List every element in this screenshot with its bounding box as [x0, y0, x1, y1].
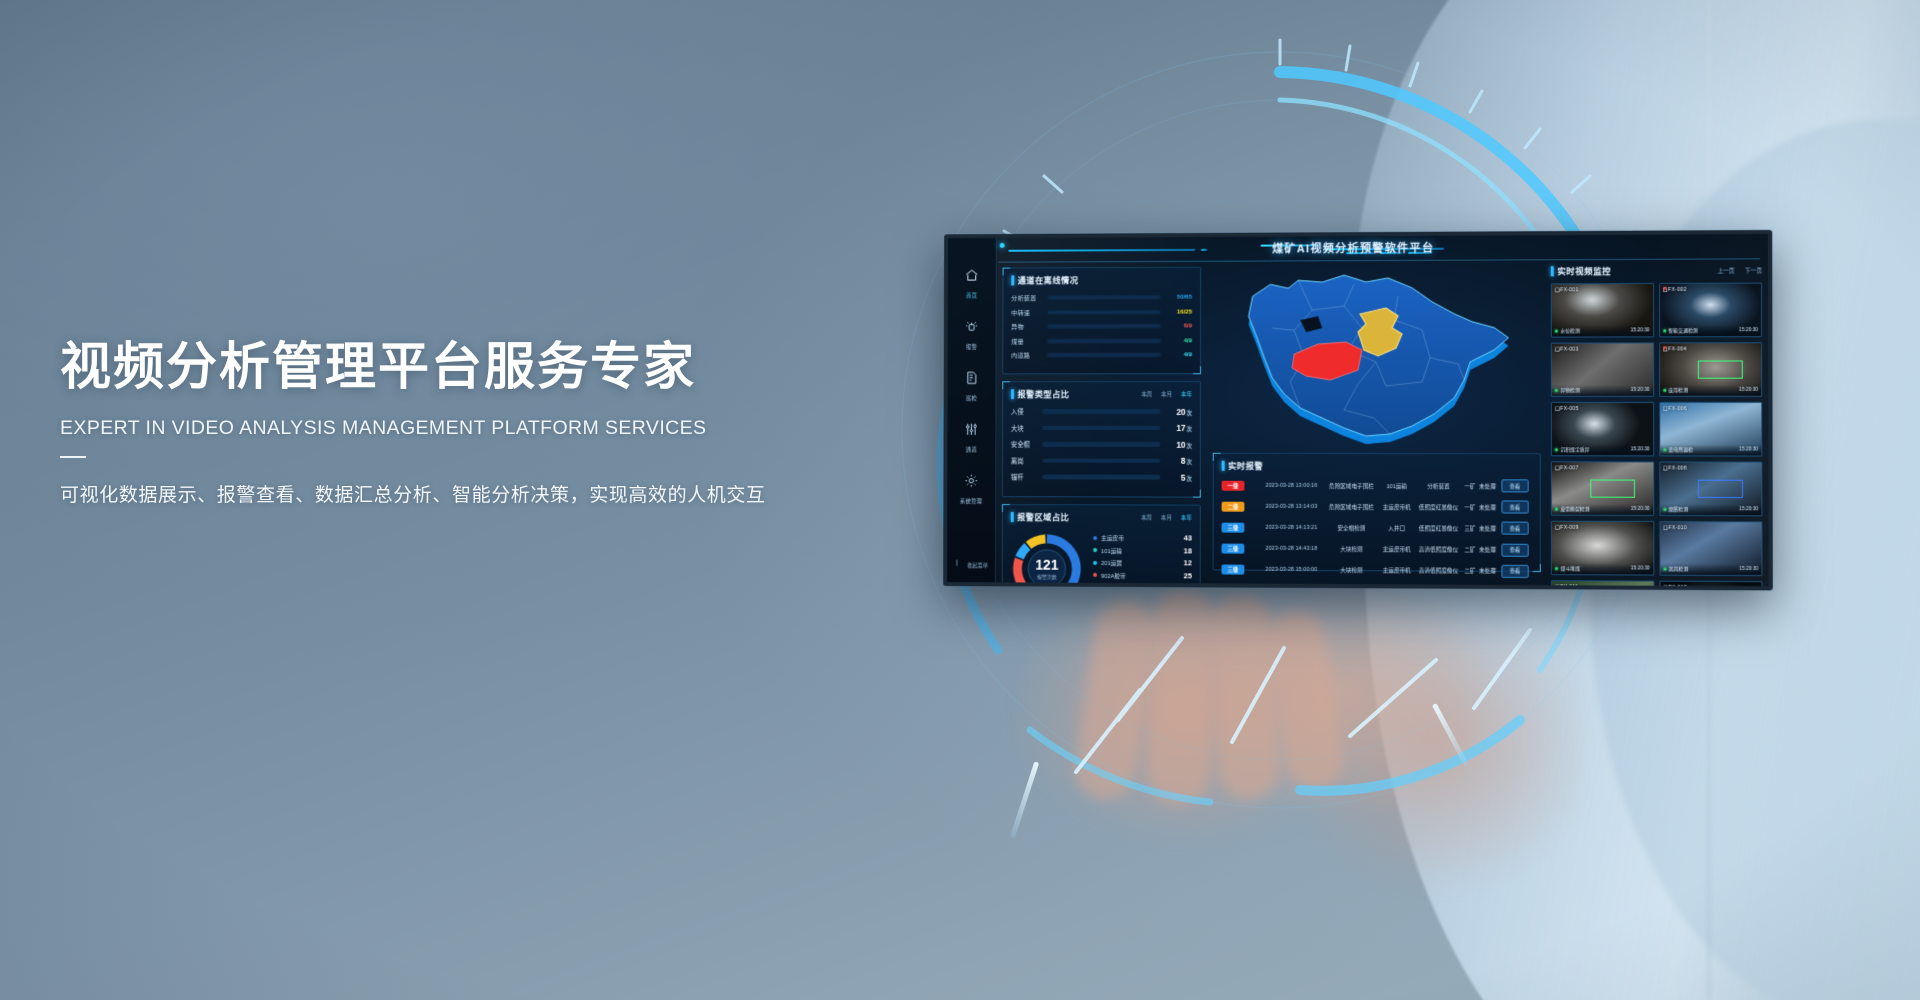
video-tile[interactable]: 口FX-001水位检测15:20:30 [1551, 283, 1654, 338]
alarm-type-title: 报警类型占比 [1017, 388, 1069, 400]
donut-segment [1029, 539, 1046, 546]
sidebar-label: 首页 [966, 293, 977, 299]
legend-item: 201运翼12 [1093, 558, 1192, 567]
alarm-action-cell: 查看 [1498, 561, 1532, 582]
alarm-mine-cell: 一矿 [1463, 497, 1477, 518]
table-row: 二级2023-03-28 13:14:03危险区域电子围栏主运皮带机低照度红暴像… [1222, 496, 1532, 518]
alarm-type-row: 大块17次 [1011, 423, 1192, 433]
realtime-alarm-title: 实时报警 [1228, 460, 1263, 472]
legend-item: 902A胶带25 [1093, 571, 1192, 580]
video-tile[interactable]: 口FX-010离岗检测15:20:30 [1659, 521, 1763, 576]
view-button[interactable]: 查看 [1501, 501, 1528, 514]
video-tile[interactable]: 口FX-005沉积煤尘质异15:20:30 [1551, 402, 1654, 456]
sidebar-collapse-label: 收起菜单 [967, 563, 988, 569]
alarm-type-value: 5次 [1166, 472, 1192, 482]
channel-icon [964, 422, 979, 439]
camera-time: 15:20:30 [1739, 328, 1758, 333]
channel-value: 6/9 [1167, 322, 1192, 329]
channel-value: 4/9 [1167, 337, 1192, 344]
sidebar-label: 通道 [966, 448, 977, 454]
camera-name: 皮带检测 [1663, 387, 1688, 394]
camera-name: 水位检测 [1555, 327, 1580, 334]
camera-name: 智能交通检测 [1663, 327, 1698, 334]
camera-time: 15:20:30 [1631, 388, 1650, 393]
table-row: 三级2023-03-28 14:43:18大块检测主运皮带机高清低照度像仪二矿未… [1222, 538, 1532, 561]
alarm-level-cell: 一级 [1222, 475, 1260, 496]
sidebar-collapse-button[interactable]: 收起菜单 [954, 554, 988, 572]
alarm-type-value: 8次 [1166, 456, 1192, 466]
alarm-mine-cell: 二矿 [1463, 560, 1477, 581]
alarm-level-cell: 三级 [1221, 559, 1259, 580]
camera-time: 15:20:30 [1631, 566, 1650, 571]
alarm-status-cell: 未处理 [1477, 497, 1498, 518]
status-badge: 一级 [1222, 480, 1245, 490]
map-region-yellow [1358, 308, 1402, 356]
alarm-type-list: 入侵20次大块17次安全帽10次离岗8次锚杆5次 [1011, 407, 1192, 483]
alarm-type-value: 10次 [1166, 439, 1192, 449]
camera-name: 皮带撕裂检测 [1555, 506, 1590, 513]
video-tile[interactable]: 口FX-007皮带撕裂检测15:20:30 [1551, 461, 1654, 516]
status-badge: 三级 [1222, 523, 1245, 533]
alarm-type-row: 安全帽10次 [1011, 439, 1192, 449]
alarm-icon [964, 319, 979, 336]
table-row: 三级2023-03-28 15:00:00大块检测主运皮带机高清低照度像仪二矿未… [1221, 559, 1531, 582]
alarm-device-cell: 分析装置 [1414, 475, 1463, 496]
system-title: 煤矿AI视频分析预警软件平台 [948, 238, 1768, 258]
alarm-type-cell: 大块检测 [1324, 539, 1380, 560]
video-tile[interactable]: 口FX-008烟雾检测15:20:30 [1659, 461, 1763, 516]
alarm-type-name: 安全帽 [1011, 440, 1036, 449]
camera-time: 15:20:30 [1739, 567, 1758, 572]
legend-value: 43 [1176, 534, 1192, 543]
channel-progress-track [1046, 309, 1161, 314]
alarm-device-cell: 高清低照度像仪 [1414, 539, 1463, 560]
video-tile[interactable]: 口FX-006变电所巡检15:20:30 [1659, 402, 1763, 457]
alarm-area-cell: 主运皮带机 [1379, 539, 1414, 560]
view-button[interactable]: 查看 [1501, 565, 1528, 578]
channel-name: 内道路 [1011, 351, 1040, 360]
alarm-area-cell: 101运输 [1379, 475, 1414, 496]
hero-subtitle: EXPERT IN VIDEO ANALYSIS MANAGEMENT PLAT… [60, 417, 800, 440]
legend-color-dot [1093, 561, 1097, 565]
camera-id: 口FX-009 [1555, 524, 1579, 531]
channel-status-row: 煤量4/9 [1011, 336, 1192, 345]
alarm-status-cell: 未处理 [1477, 539, 1498, 560]
detection-box [1698, 479, 1743, 498]
channel-status-list: 分析装置50/65中转速16/25异物6/9煤量4/9内道路4/9 [1011, 293, 1192, 360]
hero-description: 可视化数据展示、报警查看、数据汇总分析、智能分析决策，实现高效的人机交互 [60, 480, 800, 507]
video-tile[interactable]: 口FX-002智能交通检测15:20:30 [1659, 283, 1763, 338]
dashboard-screen: 煤矿AI视频分析预警软件平台 首页 报警 [947, 234, 1769, 586]
channel-value: 16/25 [1167, 308, 1192, 315]
camera-id: 口FX-006 [1663, 405, 1687, 412]
sidebar-item-alarm[interactable]: 报警 [964, 319, 979, 354]
alarm-status-cell: 未处理 [1477, 518, 1498, 539]
channel-name: 分析装置 [1011, 293, 1040, 302]
camera-name: 烟雾检测 [1663, 506, 1688, 513]
alarm-device-cell: 低照度红暴像仪 [1414, 518, 1463, 539]
channel-status-row: 分析装置50/65 [1011, 293, 1192, 303]
alarm-type-tabs[interactable]: 本周本月本年 [1141, 390, 1192, 398]
alarm-area-tab[interactable]: 本周 [1141, 513, 1152, 521]
legend-color-dot [1093, 573, 1097, 577]
alarm-level-cell: 三级 [1222, 517, 1260, 538]
sidebar-item-home[interactable]: 首页 [964, 268, 979, 303]
alarm-type-value: 17次 [1166, 423, 1192, 433]
legend-value: 18 [1176, 546, 1192, 555]
alarm-area-cell: 入井口 [1379, 518, 1414, 539]
realtime-alarm-table: 一级2023-03-28 13:00:16危险区域电子围栏101运输分析装置一矿… [1221, 475, 1531, 582]
channel-status-title: 通道在离线情况 [1018, 274, 1079, 286]
view-button[interactable]: 查看 [1501, 479, 1528, 492]
camera-id: 口FX-003 [1555, 346, 1579, 353]
channel-progress-track [1046, 338, 1161, 343]
sidebar-item-inspection[interactable]: 巡检 [964, 370, 979, 405]
alarm-action-cell: 查看 [1498, 518, 1532, 539]
alarm-mine-cell: 一矿 [1463, 475, 1477, 496]
status-badge: 二级 [1222, 501, 1245, 511]
video-grid: 口FX-001水位检测15:20:30口FX-002智能交通检测15:20:30… [1551, 283, 1763, 591]
legend-label: 201运翼 [1101, 558, 1176, 567]
title-bar-accent [1011, 389, 1013, 399]
camera-time: 15:20:30 [1739, 388, 1758, 393]
alarm-type-tab[interactable]: 本周 [1141, 390, 1152, 398]
legend-label: 101运输 [1101, 546, 1176, 555]
alarm-time-cell: 2023-03-28 15:00:00 [1259, 559, 1323, 580]
alarm-area-title: 报警区域占比 [1017, 511, 1069, 523]
sidebar-label: 巡检 [966, 396, 977, 402]
hero-divider [60, 456, 86, 458]
alarm-time-cell: 2023-03-28 14:43:18 [1259, 538, 1323, 559]
camera-name: 异物检测 [1555, 387, 1580, 394]
camera-time: 15:20:30 [1739, 507, 1758, 512]
alarm-area-donut-chart: 121 报警次数 [1011, 532, 1084, 591]
donut-center-value: 121 [1035, 557, 1058, 571]
view-button[interactable]: 查看 [1501, 543, 1528, 556]
video-tile[interactable]: 口FX-012超速抓拍15:20:30 [1659, 581, 1763, 591]
alarm-type-row: 锚杆5次 [1011, 472, 1192, 482]
alarm-level-cell: 二级 [1222, 496, 1260, 517]
camera-time: 15:20:30 [1739, 447, 1758, 452]
alarm-type-track [1042, 475, 1160, 480]
legend-item: 101运输18 [1093, 546, 1192, 555]
alarm-type-value: 20次 [1166, 407, 1192, 417]
dashboard-header: 煤矿AI视频分析预警软件平台 [948, 234, 1768, 264]
alarm-status-cell: 未处理 [1477, 475, 1498, 496]
alarm-action-cell: 查看 [1498, 539, 1532, 560]
channel-status-panel: 通道在离线情况 分析装置50/65中转速16/25异物6/9煤量4/9内道路4/… [1002, 267, 1201, 374]
alarm-area-tabs[interactable]: 本周本月本年 [1141, 513, 1192, 521]
detection-box [1698, 360, 1743, 379]
camera-id: 口FX-001 [1555, 286, 1579, 293]
status-badge: 三级 [1221, 565, 1244, 575]
alarm-type-name: 锚杆 [1011, 472, 1036, 481]
camera-id: 口FX-004 [1663, 345, 1687, 352]
channel-progress-track [1047, 295, 1162, 300]
hero-title: 视频分析管理平台服务专家 [60, 325, 800, 399]
alarm-type-name: 离岗 [1011, 456, 1036, 465]
alarm-mine-cell: 二矿 [1463, 539, 1477, 560]
video-tile[interactable]: 口FX-003异物检测15:20:30 [1551, 342, 1654, 396]
channel-status-row: 中转速16/25 [1011, 307, 1192, 316]
alarm-device-cell: 低照度红暴像仪 [1414, 496, 1463, 517]
video-tile[interactable]: 口FX-011人员脱岗15:20:30 [1551, 580, 1654, 590]
camera-time: 15:20:30 [1631, 507, 1650, 512]
alarm-status-cell: 未处理 [1477, 560, 1498, 581]
camera-name: 变电所巡检 [1663, 446, 1693, 453]
alarm-area-cell: 主运皮带机 [1379, 560, 1414, 581]
alarm-type-cell: 安全帽检测 [1324, 517, 1380, 538]
legend-label: 主运皮带 [1101, 533, 1176, 542]
sidebar: 首页 报警 巡检 [947, 238, 997, 582]
collapse-icon [954, 554, 967, 571]
alarm-type-cell: 危险区域电子围栏 [1324, 475, 1380, 496]
left-column: 通道在离线情况 分析装置50/65中转速16/25异物6/9煤量4/9内道路4/… [996, 237, 1207, 583]
alarm-time-cell: 2023-03-28 13:14:03 [1259, 496, 1323, 517]
legend-color-dot [1093, 536, 1097, 540]
title-bar-accent [1011, 275, 1013, 285]
camera-name: 煤斗堆煤 [1555, 565, 1580, 572]
gear-icon [960, 473, 982, 490]
channel-name: 异物 [1011, 322, 1040, 331]
alarm-action-cell: 查看 [1498, 475, 1532, 496]
alarm-area-tab[interactable]: 本月 [1161, 513, 1172, 521]
alarm-type-cell: 危险区域电子围栏 [1324, 496, 1380, 517]
channel-progress-track [1046, 352, 1161, 357]
hero-text-block: 视频分析管理平台服务专家 EXPERT IN VIDEO ANALYSIS MA… [60, 325, 800, 507]
camera-time: 15:20:30 [1631, 328, 1650, 333]
alarm-type-cell: 大块检测 [1324, 560, 1380, 581]
alarm-area-panel: 报警区域占比 本周本月本年 121 报警次数 主运皮带43101运输18201运… [1002, 504, 1201, 590]
alarm-type-name: 入侵 [1011, 407, 1036, 416]
alarm-type-tab[interactable]: 本年 [1181, 390, 1192, 398]
region-map[interactable] [1207, 257, 1547, 468]
camera-id: 口FX-002 [1663, 286, 1687, 293]
channel-progress-track [1046, 324, 1161, 329]
channel-status-row: 异物6/9 [1011, 321, 1192, 330]
alarm-time-cell: 2023-03-28 13:00:16 [1259, 475, 1323, 496]
legend-color-dot [1093, 548, 1097, 552]
alarm-type-name: 大块 [1011, 423, 1036, 432]
donut-segment [1017, 559, 1029, 590]
camera-id: 口FX-005 [1555, 405, 1579, 412]
camera-id: 口FX-007 [1555, 464, 1579, 471]
channel-name: 煤量 [1011, 336, 1040, 345]
alarm-area-legend: 主运皮带43101运输18201运翼12902A胶带25中央变电所10中央辅运巷… [1089, 533, 1192, 590]
channel-name: 中转速 [1011, 308, 1040, 317]
center-column: 实时报警 一级2023-03-28 13:00:16危险区域电子围栏101运输分… [1207, 235, 1547, 585]
sidebar-item-channel[interactable]: 通道 [964, 422, 979, 457]
legend-label: 902A胶带 [1101, 571, 1176, 580]
legend-value: 12 [1176, 559, 1192, 568]
camera-id: 口FX-012 [1663, 584, 1687, 591]
camera-id: 口FX-008 [1663, 465, 1687, 472]
channel-value: 4/9 [1167, 351, 1192, 358]
next-page-button[interactable]: 下一页 [1745, 266, 1762, 274]
alarm-type-tab[interactable]: 本月 [1161, 390, 1172, 398]
video-tile[interactable]: 口FX-009煤斗堆煤15:20:30 [1551, 521, 1654, 576]
alarm-device-cell: 高清低照度像仪 [1414, 560, 1463, 582]
monitor-frame: 煤矿AI视频分析预警软件平台 首页 报警 [943, 230, 1773, 590]
alarm-time-cell: 2023-03-28 14:13:21 [1259, 517, 1323, 538]
alarm-type-panel: 报警类型占比 本周本月本年 入侵20次大块17次安全帽10次离岗8次锚杆5次 [1002, 381, 1201, 498]
alarm-type-track [1042, 458, 1160, 463]
camera-time: 15:20:30 [1631, 447, 1650, 452]
donut-center-label: 报警次数 [1035, 573, 1058, 580]
title-bar-accent [1222, 461, 1224, 471]
camera-name: 沉积煤尘质异 [1555, 446, 1590, 453]
alarm-level-cell: 三级 [1222, 538, 1260, 559]
realtime-alarm-panel: 实时报警 一级2023-03-28 13:00:16危险区域电子围栏101运输分… [1213, 453, 1541, 572]
inspection-icon [964, 370, 979, 387]
channel-value: 50/65 [1167, 294, 1192, 301]
camera-id: 口FX-010 [1663, 524, 1687, 531]
table-row: 一级2023-03-28 13:00:16危险区域电子围栏101运输分析装置一矿… [1222, 475, 1532, 497]
prev-page-button[interactable]: 上一页 [1718, 267, 1735, 275]
donut-segment [1020, 546, 1028, 557]
legend-item: 主运皮带43 [1093, 533, 1192, 542]
sidebar-item-system[interactable]: 系统管理 [960, 473, 982, 508]
alarm-action-cell: 查看 [1498, 497, 1532, 518]
alarm-mine-cell: 三矿 [1463, 518, 1477, 539]
legend-value: 25 [1176, 571, 1192, 580]
video-tile[interactable]: 口FX-004皮带检测15:20:30 [1659, 342, 1763, 397]
channel-status-row: 内道路4/9 [1011, 350, 1192, 359]
alarm-type-track [1042, 426, 1160, 431]
alarm-area-tab[interactable]: 本年 [1181, 514, 1192, 522]
view-button[interactable]: 查看 [1501, 522, 1528, 535]
alarm-type-row: 入侵20次 [1011, 407, 1192, 417]
sidebar-label: 系统管理 [960, 499, 982, 505]
title-bar-accent [1011, 512, 1013, 522]
detection-box [1590, 479, 1634, 498]
right-column: 实时视频监控 上一页 下一页 口FX-001水位检测15:20:30口FX-00… [1547, 234, 1769, 586]
table-row: 三级2023-03-28 14:13:21安全帽检测入井口低照度红暴像仪三矿未处… [1222, 517, 1532, 539]
alarm-type-row: 离岗8次 [1011, 456, 1192, 466]
alarm-type-track [1042, 409, 1160, 413]
alarm-type-track [1042, 442, 1160, 447]
home-icon [964, 268, 979, 285]
camera-name: 离岗检测 [1663, 566, 1688, 573]
status-badge: 三级 [1222, 544, 1245, 554]
alarm-area-cell: 主运皮带机 [1379, 496, 1414, 517]
sidebar-label: 报警 [966, 345, 977, 351]
